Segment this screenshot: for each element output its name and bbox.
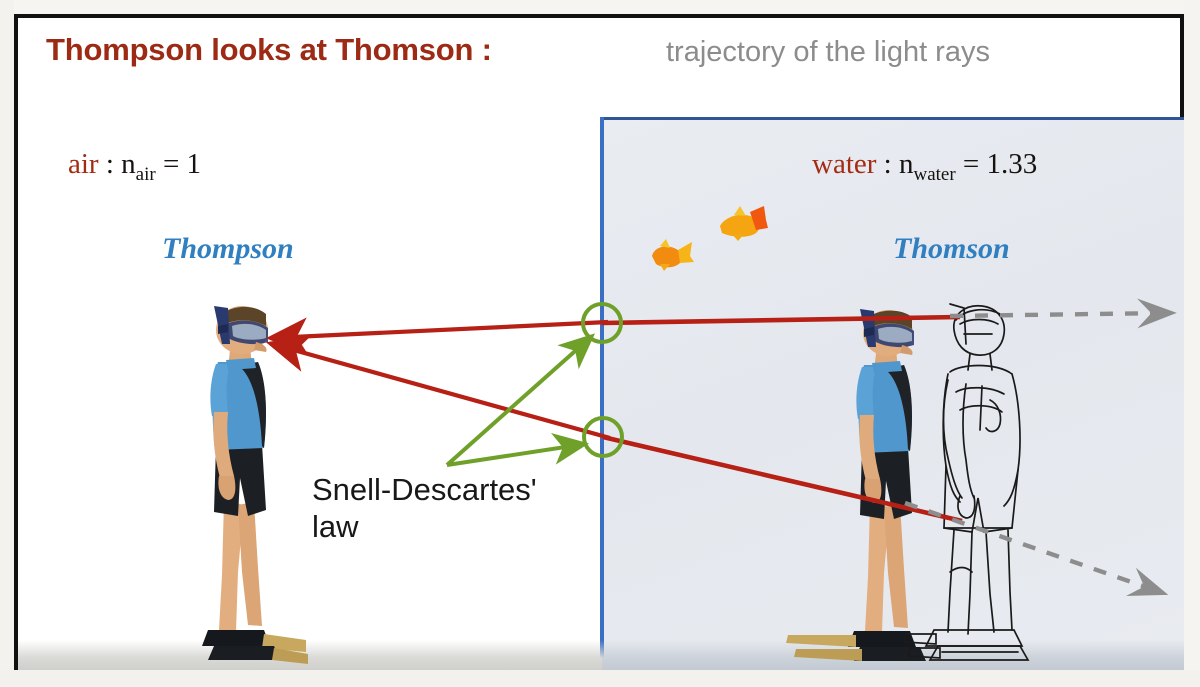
floor-air-side [18, 640, 602, 670]
virtual-fin-boot-1 [926, 630, 1022, 646]
virtual-sternum [980, 386, 982, 430]
air-subscript: air [136, 164, 156, 185]
observer-figure-thompson [178, 300, 308, 665]
subject-leg-back [884, 504, 908, 628]
subject-collar [872, 361, 902, 373]
observer-fin-boot-front [202, 630, 270, 646]
fish-icon-2 [714, 204, 770, 242]
virtual-leg-back-right [1008, 530, 1012, 630]
virtual-arm-back [963, 384, 974, 498]
air-medium-label: air : nair = 1 [68, 148, 201, 186]
paper-edge-top [0, 0, 1200, 14]
virtual-image-outline [920, 300, 1050, 670]
virtual-neck [968, 354, 992, 370]
virtual-leg-back-left [986, 532, 994, 632]
subtitle: trajectory of the light rays [666, 36, 990, 69]
fish-tail-1 [678, 242, 694, 263]
air-separator: : n [99, 148, 136, 180]
observer-leg-back [238, 502, 262, 626]
water-medium-label: water : nwater = 1.33 [812, 148, 1037, 186]
virtual-chest-line [956, 388, 1004, 394]
fish-fin-top-1 [660, 239, 670, 248]
virtual-shoulders [950, 366, 1012, 375]
fish-fin-bottom-1 [660, 264, 670, 271]
paper-edge-bottom [0, 670, 1200, 687]
fish-svg-1 [648, 238, 696, 272]
virtual-hand [958, 496, 975, 518]
virtual-fin-boot-2 [930, 646, 1028, 660]
observer-svg [178, 300, 308, 665]
virtual-shorts [944, 466, 1018, 532]
water-subscript: water [913, 164, 955, 185]
diagram-canvas: Thompson looks at Thomson : trajectory o… [0, 0, 1200, 687]
subject-chin [900, 345, 913, 355]
water-value: = 1.33 [956, 148, 1038, 180]
virtual-snorkel [950, 304, 966, 344]
air-value: = 1 [156, 148, 201, 180]
virtual-leg-front-left [948, 530, 954, 632]
observer-fin-boot-back [208, 646, 280, 660]
observer-chin [254, 342, 267, 352]
virtual-leg-front-right [968, 532, 972, 634]
page-title: Thompson looks at Thomson : [46, 32, 492, 68]
snell-law-line-1: Snell-Descartes' [312, 472, 537, 507]
observer-collar [226, 358, 256, 370]
virtual-shoulder-blade [986, 400, 1001, 431]
snell-law-line-2: law [312, 509, 359, 544]
paper-edge-left [0, 0, 14, 687]
subject-name-label: Thomson [893, 232, 1010, 266]
water-separator: : n [876, 148, 913, 180]
water-name: water [812, 148, 876, 180]
virtual-knee [950, 568, 972, 573]
water-surface-line [602, 117, 1184, 120]
snell-descartes-law-label: Snell-Descartes' law [312, 472, 612, 545]
air-water-interface-line [600, 117, 604, 670]
fish-icon-1 [648, 238, 696, 272]
fish-svg-2 [714, 204, 770, 242]
fish-fin-top-2 [734, 206, 746, 216]
virtual-torso-back [1004, 374, 1020, 506]
paper-edge-right [1184, 0, 1200, 687]
fish-fin-bottom-2 [732, 234, 744, 241]
virtual-image-svg [920, 300, 1050, 670]
air-name: air [68, 148, 99, 180]
observer-name-label: Thompson [162, 232, 294, 266]
virtual-hair-line [956, 310, 1000, 320]
subject-fin-boot-back [854, 647, 926, 661]
